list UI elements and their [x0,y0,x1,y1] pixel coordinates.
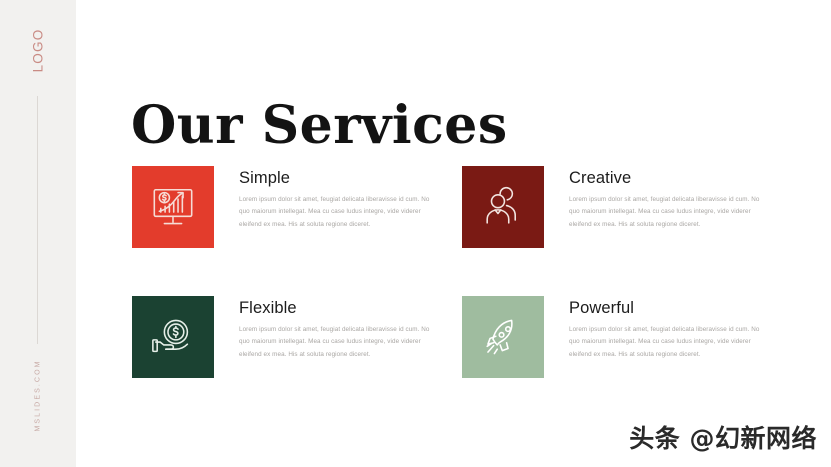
service-icon-tile [132,296,214,378]
service-card-body: Creative Lorem ipsum dolor sit amet, feu… [569,169,765,231]
service-card-body: Simple Lorem ipsum dolor sit amet, feugi… [239,169,435,231]
hand-holding-coin-icon [150,314,196,360]
site-url[interactable]: MSLIDES.COM [0,350,76,440]
service-card-text: Lorem ipsum dolor sit amet, feugiat deli… [239,324,435,361]
service-icon-tile [462,166,544,248]
service-card[interactable]: Flexible Lorem ipsum dolor sit amet, feu… [132,296,434,379]
monitor-chart-dollar-icon [150,184,196,230]
logo-label: LOGO [31,28,46,72]
sidebar-divider [37,96,38,344]
sidebar: LOGO MSLIDES.COM [0,0,76,467]
service-card-heading: Creative [569,169,765,187]
service-card-text: Lorem ipsum dolor sit amet, feugiat deli… [569,194,765,231]
service-card-text: Lorem ipsum dolor sit amet, feugiat deli… [569,324,765,361]
service-icon-tile [462,296,544,378]
page-title: Our Services [131,95,508,157]
logo[interactable]: LOGO [0,20,76,80]
two-people-icon [480,184,526,230]
service-card-body: Powerful Lorem ipsum dolor sit amet, feu… [569,299,765,361]
watermark: 头条 @幻新网络 [629,419,817,455]
service-card-heading: Simple [239,169,435,187]
service-card-heading: Powerful [569,299,765,317]
site-url-label: MSLIDES.COM [34,359,41,431]
service-card[interactable]: Creative Lorem ipsum dolor sit amet, feu… [462,166,764,249]
service-card[interactable]: Simple Lorem ipsum dolor sit amet, feugi… [132,166,434,249]
slide-canvas: LOGO MSLIDES.COM Our Services Simple Lor… [0,0,831,467]
service-card-text: Lorem ipsum dolor sit amet, feugiat deli… [239,194,435,231]
service-card-heading: Flexible [239,299,435,317]
service-card[interactable]: Powerful Lorem ipsum dolor sit amet, feu… [462,296,764,379]
rocket-icon [480,314,526,360]
service-card-body: Flexible Lorem ipsum dolor sit amet, feu… [239,299,435,361]
service-icon-tile [132,166,214,248]
